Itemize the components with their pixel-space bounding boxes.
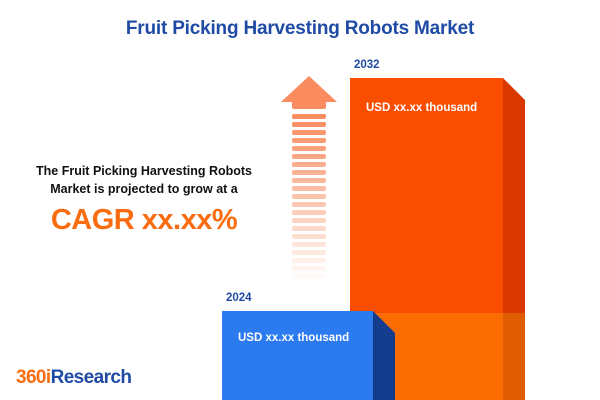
arrow-stem	[292, 101, 326, 109]
cagr-lead-text: The Fruit Picking Harvesting Robots Mark…	[8, 163, 280, 199]
arrow-segment	[292, 122, 326, 127]
market-infographic: Fruit Picking Harvesting Robots Market T…	[0, 0, 600, 400]
arrow-segment	[292, 218, 326, 223]
arrow-segment	[292, 194, 326, 199]
page-title: Fruit Picking Harvesting Robots Market	[0, 18, 600, 40]
logo-word: Research	[51, 367, 132, 388]
arrow-segment	[292, 178, 326, 183]
bar-2024-face	[222, 311, 373, 400]
arrow-segment	[292, 210, 326, 215]
arrow-segment	[292, 138, 326, 143]
arrow-triangle	[281, 76, 337, 102]
bar-2032-year-label: 2032	[354, 59, 380, 71]
arrow-segment	[292, 170, 326, 175]
arrow-segment	[292, 242, 326, 247]
arrow-segment	[292, 162, 326, 167]
logo-mark: 360i	[16, 367, 51, 388]
arrow-head-icon	[281, 76, 337, 108]
arrow-segment	[292, 186, 326, 191]
arrow-segment	[292, 234, 326, 239]
cagr-lead-line-1: The Fruit Picking Harvesting Robots	[36, 164, 252, 178]
cagr-lead-line-2: Market is projected to grow at a	[50, 182, 238, 196]
arrow-gradient-segments	[292, 114, 326, 290]
growth-arrow-icon	[281, 76, 337, 296]
arrow-segment	[292, 266, 326, 271]
cagr-value: CAGR xx.xx%	[8, 206, 280, 235]
brand-logo[interactable]: 360iResearch	[16, 367, 131, 389]
arrow-segment	[292, 258, 326, 263]
arrow-segment	[292, 130, 326, 135]
arrow-segment	[292, 146, 326, 151]
arrow-segment	[292, 202, 326, 207]
bar-2032-value-label: USD xx.xx thousand	[366, 102, 477, 114]
bar-2032-front-panel-side	[503, 313, 525, 400]
arrow-segment	[292, 282, 326, 287]
cagr-statement: The Fruit Picking Harvesting Robots Mark…	[8, 163, 280, 235]
arrow-segment	[292, 250, 326, 255]
bar-2024-value-label: USD xx.xx thousand	[238, 332, 349, 344]
arrow-segment	[292, 274, 326, 279]
arrow-segment	[292, 226, 326, 231]
arrow-segment	[292, 154, 326, 159]
bar-2024-year-label: 2024	[226, 292, 252, 304]
arrow-segment	[292, 114, 326, 119]
